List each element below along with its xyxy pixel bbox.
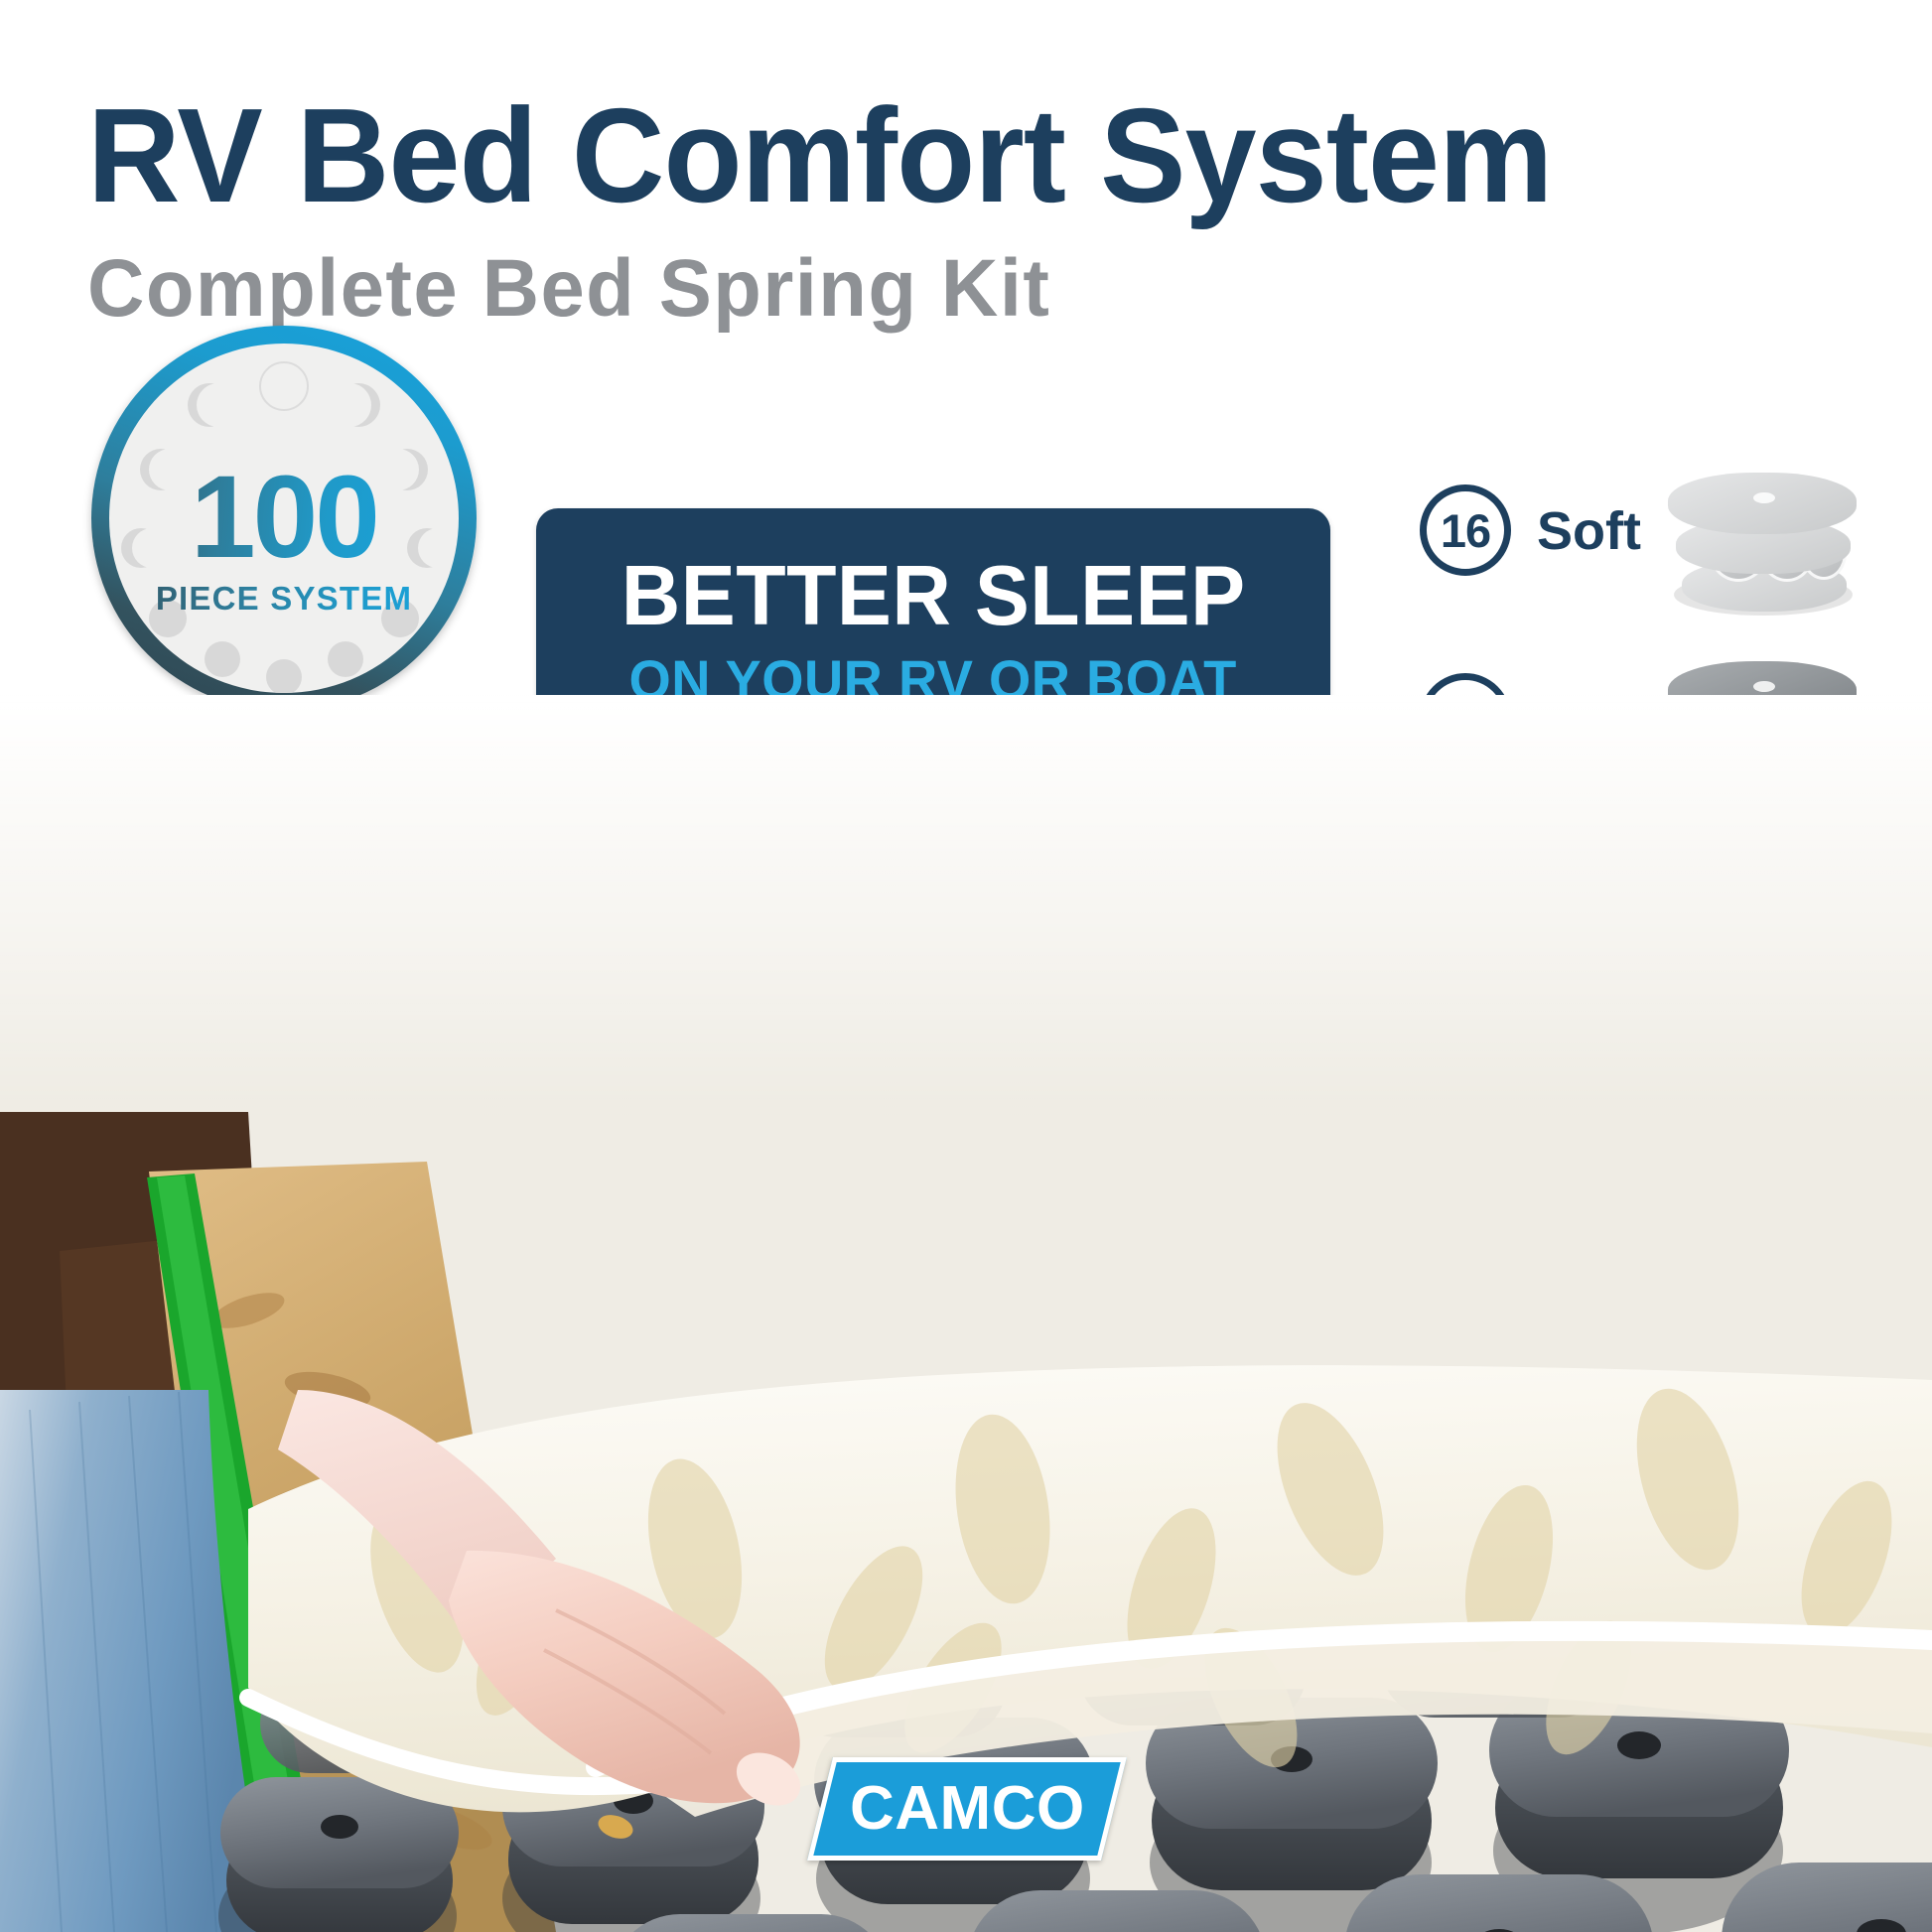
product-marketing-image: RV Bed Comfort System Complete Bed Sprin… — [0, 0, 1932, 1932]
camco-logo-text: CAMCO — [850, 1778, 1085, 1840]
page-subtitle: Complete Bed Spring Kit — [87, 246, 1802, 332]
soft-count-label: Soft — [1537, 500, 1641, 562]
badge-caption: PIECE SYSTEM — [109, 582, 459, 615]
product-photo-illustration — [0, 695, 1932, 1932]
spring-count-row-soft: 16 Soft — [1420, 467, 1886, 655]
moon-new-icon — [328, 641, 363, 677]
camco-logo: CAMCO — [807, 1757, 1127, 1861]
moon-new-icon — [266, 659, 302, 693]
coil-center-hole — [1753, 681, 1775, 692]
moon-crescent-icon — [188, 383, 231, 427]
badge-face: 100 PIECE SYSTEM — [109, 344, 459, 693]
soft-count-circle: 16 — [1420, 484, 1511, 576]
product-photo — [0, 695, 1932, 1932]
banner-headline: BETTER SLEEP — [621, 554, 1246, 638]
coil-plate-top — [1668, 473, 1857, 534]
moon-full-icon — [259, 361, 309, 411]
coil-center-hole — [1753, 492, 1775, 503]
badge-number: 100 — [109, 459, 459, 576]
moon-crescent-icon — [337, 383, 380, 427]
header-text-block: RV Bed Comfort System Complete Bed Sprin… — [87, 87, 1855, 332]
moon-new-icon — [205, 641, 240, 677]
piece-count-badge: 100 PIECE SYSTEM — [91, 326, 477, 711]
soft-spring-coil-icon — [1658, 467, 1876, 625]
page-title: RV Bed Comfort System — [87, 87, 1784, 224]
